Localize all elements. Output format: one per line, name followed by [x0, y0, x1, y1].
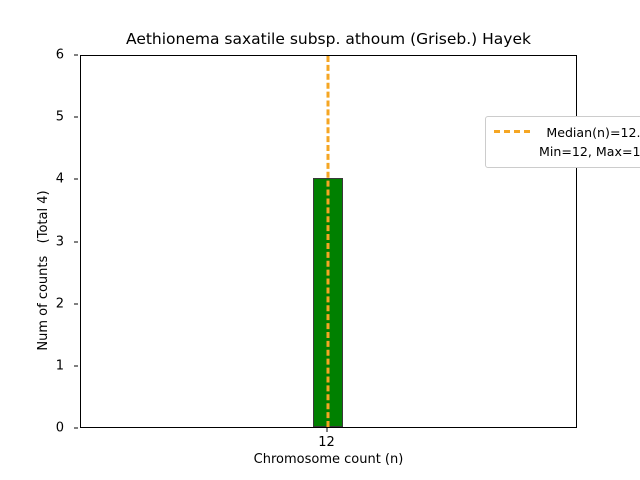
y-tick-label-1: 1 [56, 359, 64, 372]
y-axis-label: Num of counts (Total 4) [36, 84, 51, 457]
x-tick-mark-12 [326, 428, 327, 432]
chart-title: Aethionema saxatile subsp. athoum (Grise… [80, 30, 577, 48]
legend-median-label: Median(n)=12.0 [539, 123, 640, 142]
chart-figure: Aethionema saxatile subsp. athoum (Grise… [0, 0, 640, 480]
y-tick-mark-2 [74, 303, 78, 304]
y-tick-mark-6 [74, 55, 78, 56]
y-tick-label-5: 5 [56, 111, 64, 124]
median-line [326, 56, 329, 427]
legend: Median(n)=12.0 Min=12, Max=12 [485, 116, 640, 168]
legend-entry-text: Median(n)=12.0 Min=12, Max=12 [539, 123, 640, 161]
y-tick-label-6: 6 [56, 49, 64, 62]
plot-area: Median(n)=12.0 Min=12, Max=12 [80, 55, 577, 428]
y-tick-mark-0 [74, 428, 78, 429]
y-axis-ticks: 0 1 2 3 4 5 6 Num of counts (Total 4) [0, 55, 74, 428]
y-tick-mark-4 [74, 179, 78, 180]
y-tick-mark-1 [74, 365, 78, 366]
y-tick-mark-3 [74, 241, 78, 242]
legend-line-sample-icon [494, 130, 530, 133]
legend-minmax-label: Min=12, Max=12 [539, 142, 640, 161]
y-tick-label-4: 4 [56, 173, 64, 186]
y-tick-label-2: 2 [56, 297, 64, 310]
plot-inner [81, 56, 576, 427]
y-tick-label-3: 3 [56, 235, 64, 248]
x-tick-label-12: 12 [318, 436, 335, 449]
x-axis-label: Chromosome count (n) [80, 452, 577, 467]
y-tick-label-0: 0 [56, 422, 64, 435]
y-tick-mark-5 [74, 117, 78, 118]
